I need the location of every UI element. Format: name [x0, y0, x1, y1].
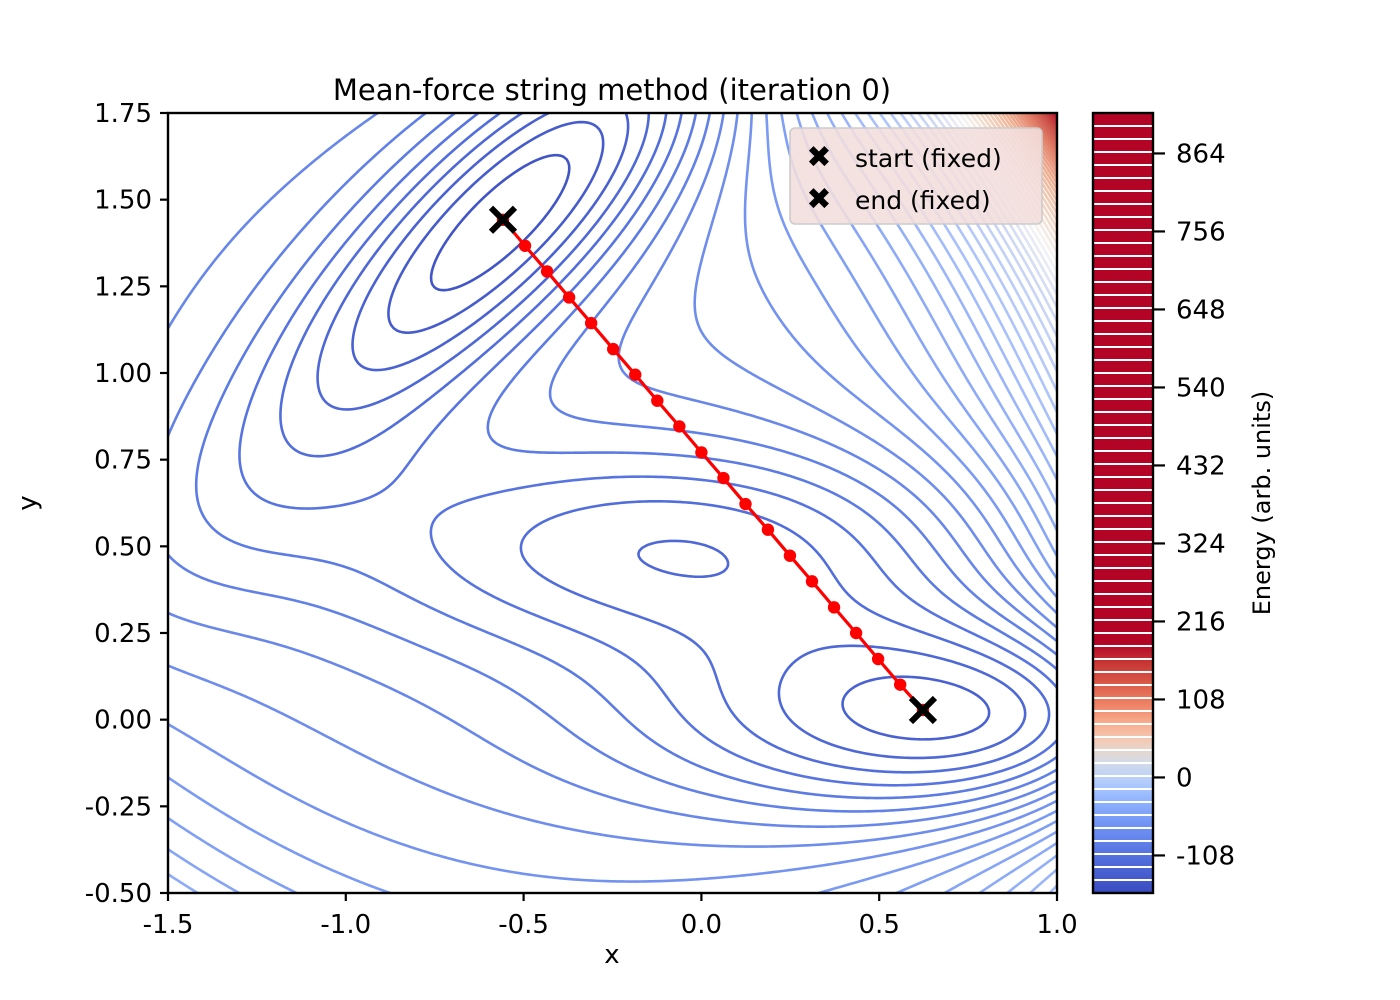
string-image-marker [651, 395, 663, 407]
y-tick-label: 0.00 [94, 706, 152, 736]
colorbar-tick-label: 756 [1176, 217, 1226, 247]
string-image-marker [762, 523, 774, 535]
string-image-marker [519, 240, 531, 252]
y-tick-label: 0.75 [94, 446, 152, 476]
x-tick-label: -0.5 [498, 910, 549, 940]
figure-canvas: Mean-force string method (iteration 0) -… [0, 0, 1400, 1000]
y-tick-label: -0.50 [85, 879, 152, 909]
colorbar-label: Energy (arb. units) [1248, 391, 1276, 615]
string-image-marker [828, 601, 840, 613]
colorbar-tick-label: 540 [1176, 373, 1226, 403]
x-marker-icon: ✖ [806, 182, 831, 217]
legend-label-start: start (fixed) [855, 144, 1002, 173]
y-tick-label: 1.75 [94, 99, 152, 129]
legend[interactable]: ✖ start (fixed) ✖ end (fixed) [790, 128, 1042, 224]
y-tick-label: 1.25 [94, 272, 152, 302]
string-image-marker [673, 420, 685, 432]
string-image-marker [585, 317, 597, 329]
string-image-marker [541, 265, 553, 277]
colorbar-tick-label: 864 [1176, 139, 1226, 169]
string-image-marker [563, 291, 575, 303]
legend-label-end: end (fixed) [855, 186, 991, 215]
y-tick-label: 1.50 [94, 186, 152, 216]
colorbar-tick-label: 324 [1176, 529, 1226, 559]
string-image-marker [629, 369, 641, 381]
y-tick-label: -0.25 [85, 792, 152, 822]
colorbar-tick-label: 0 [1176, 763, 1193, 793]
y-tick-label: 1.00 [94, 359, 152, 389]
string-image-marker [607, 343, 619, 355]
x-axis-label: x [604, 940, 619, 970]
x-marker-icon: ✖ [806, 140, 831, 175]
string-image-marker [695, 446, 707, 458]
colorbar-tick-label: 432 [1176, 451, 1226, 481]
colorbar-tick-label: 108 [1176, 685, 1226, 715]
colorbar-tick-label: -108 [1176, 841, 1235, 871]
string-image-marker [784, 549, 796, 561]
colorbar-tick-label: 648 [1176, 295, 1226, 325]
colorbar-tick-label: 216 [1176, 607, 1226, 637]
y-tick-label: 0.25 [94, 619, 152, 649]
page-title: Mean-force string method (iteration 0) [333, 73, 891, 107]
string-image-marker [739, 498, 751, 510]
x-tick-label: -1.5 [143, 910, 194, 940]
string-image-marker [717, 472, 729, 484]
x-tick-label: -1.0 [320, 910, 371, 940]
contour-plot-area [168, 113, 1057, 893]
x-tick-label: 1.0 [1036, 910, 1077, 940]
string-image-marker [872, 653, 884, 665]
y-tick-label: 0.50 [94, 532, 152, 562]
string-image-marker [806, 575, 818, 587]
string-image-marker [894, 678, 906, 690]
string-image-marker [850, 627, 862, 639]
x-tick-label: 0.5 [859, 910, 900, 940]
x-tick-label: 0.0 [681, 910, 722, 940]
y-axis-label: y [13, 495, 43, 510]
